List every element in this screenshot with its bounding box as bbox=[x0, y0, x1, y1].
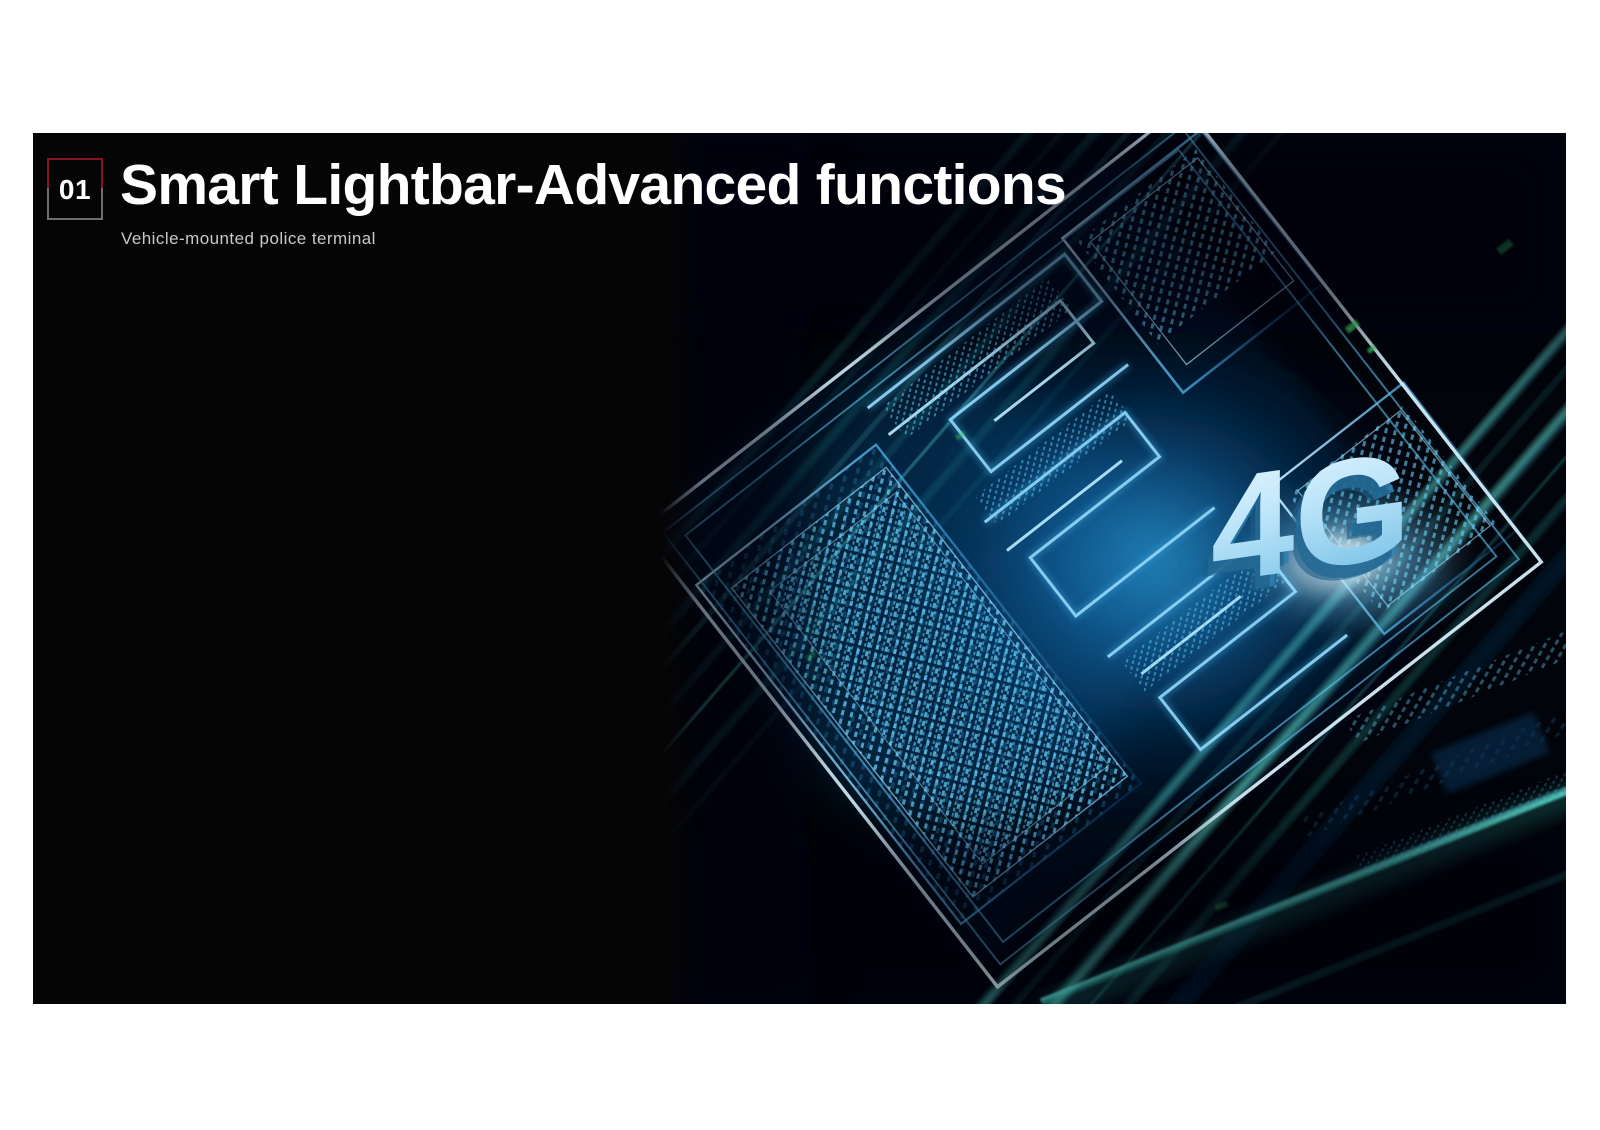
svg-text:4G: 4G bbox=[1211, 419, 1411, 614]
slide-number-badge: 01 bbox=[47, 158, 103, 220]
slide-canvas: 4G 4G 4G bbox=[33, 133, 1566, 1004]
page-title: Smart Lightbar-Advanced functions bbox=[120, 154, 1066, 218]
text-column: 01 bbox=[33, 133, 656, 1004]
badge-number: 01 bbox=[47, 158, 103, 220]
page-subtitle: Vehicle-mounted police terminal bbox=[121, 229, 376, 249]
4g-overlay-text: 4G 4G 4G bbox=[1201, 419, 1411, 630]
hero-image-4g-circuit: 4G 4G 4G bbox=[655, 133, 1566, 1004]
circuit-illustration: 4G 4G 4G bbox=[655, 133, 1566, 1004]
